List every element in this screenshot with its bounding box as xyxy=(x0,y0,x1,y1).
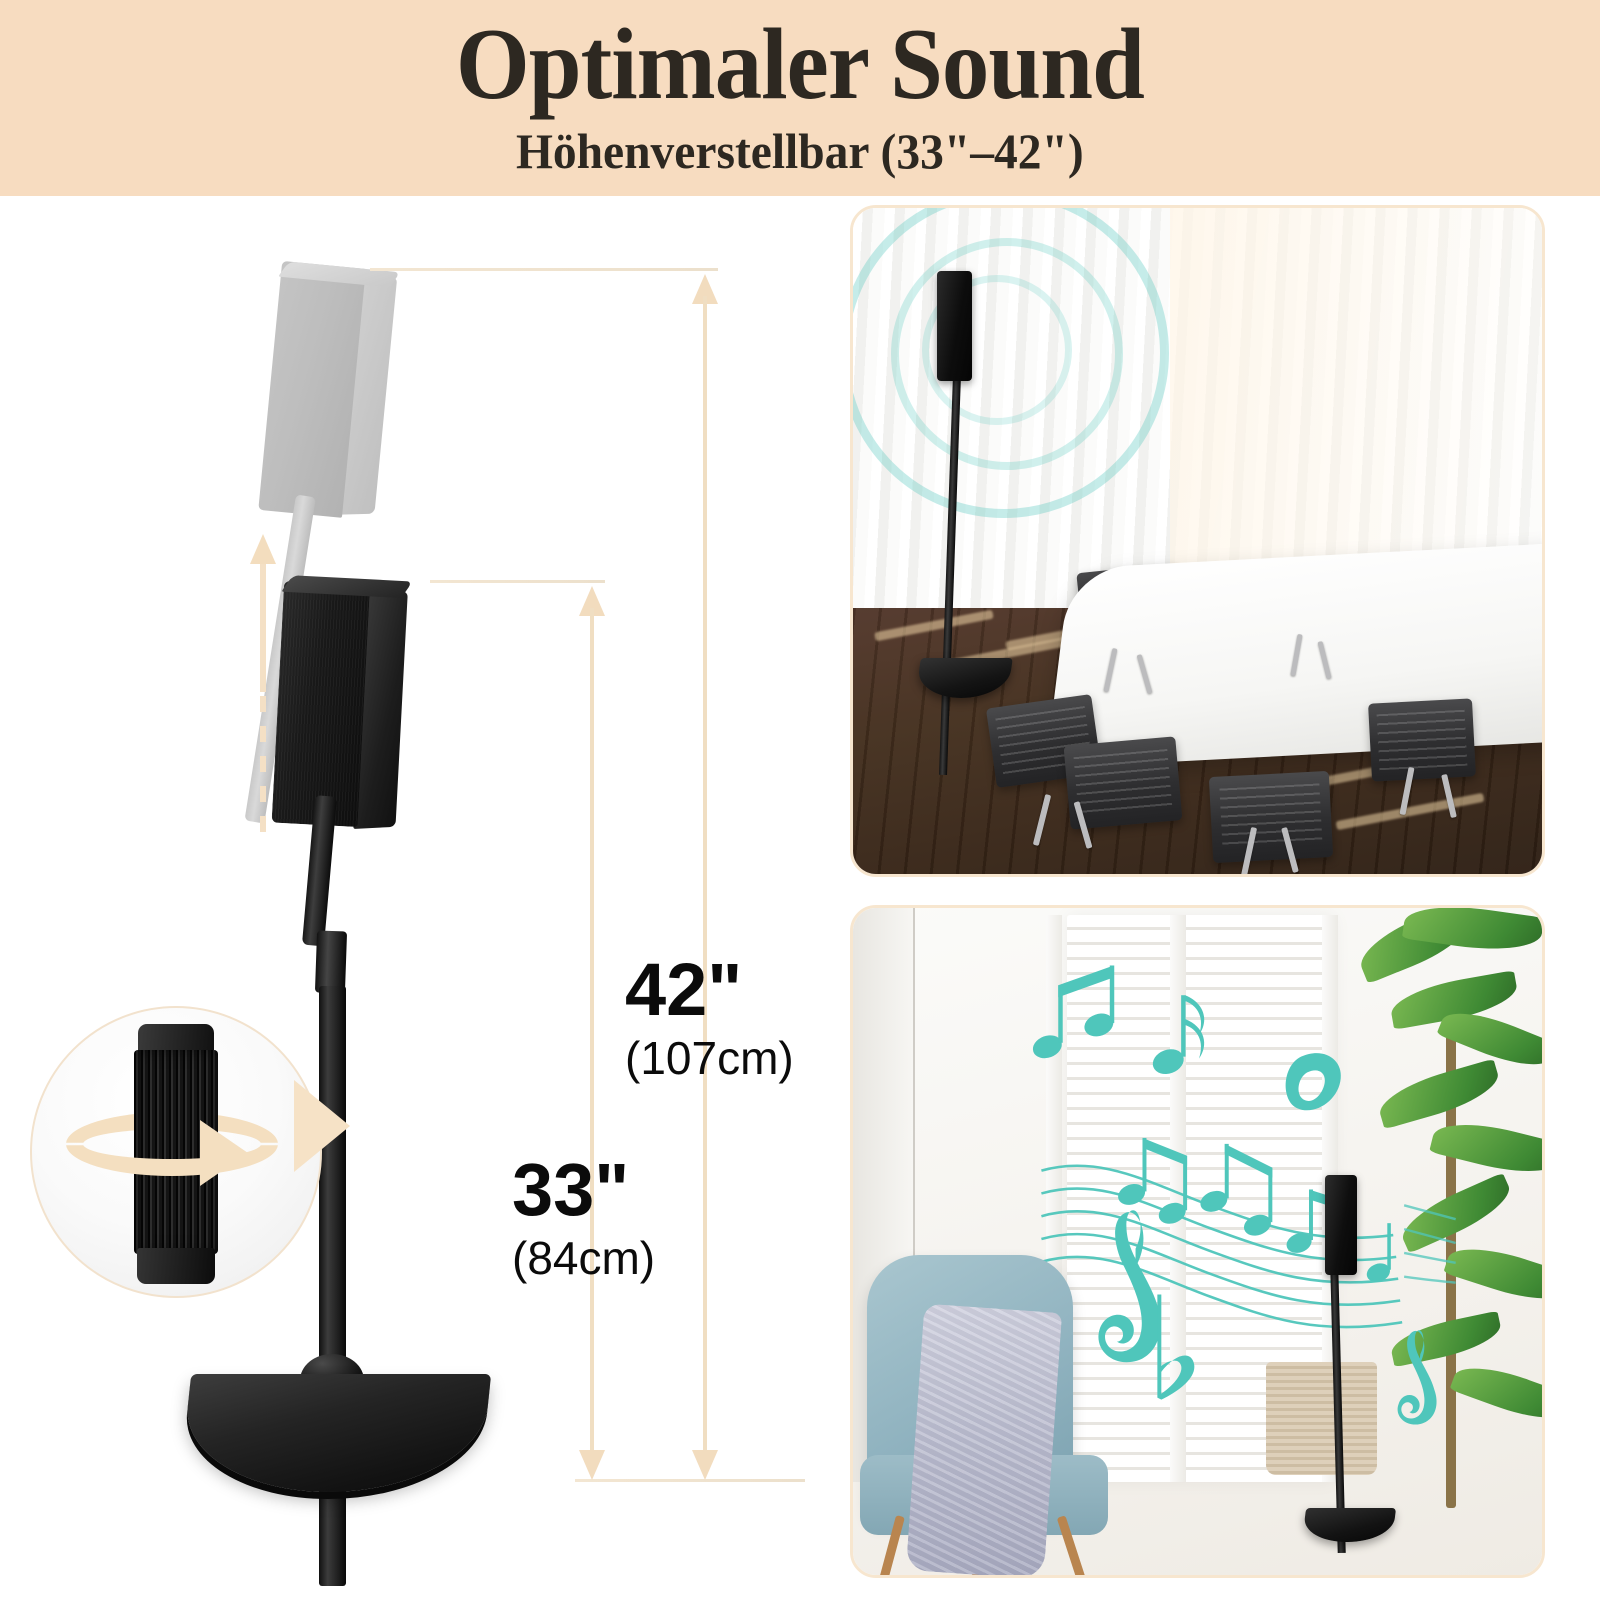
stand-base-plate xyxy=(179,1374,491,1492)
twist-lock-knob-inset xyxy=(30,1006,322,1298)
raised-speaker-ghost xyxy=(258,261,399,521)
pole-twist-collar xyxy=(315,930,347,993)
photo-speaker xyxy=(1325,1175,1357,1275)
conference-chair xyxy=(1209,771,1333,863)
arrow-head-down-icon xyxy=(579,1450,605,1480)
product-dimension-diagram: 42" (107cm) 33" (84cm) xyxy=(0,196,820,1600)
inset-pointer-icon xyxy=(294,1080,350,1172)
height-adjust-arrow-icon xyxy=(250,534,276,834)
conference-chair xyxy=(1368,698,1476,781)
min-height-label: 33" (84cm) xyxy=(512,1156,655,1282)
dimension-arrow-min-height xyxy=(579,586,605,1480)
rotation-arrow-icon xyxy=(200,1120,248,1186)
max-height-inches: 42" xyxy=(625,956,794,1024)
min-height-metric: (84cm) xyxy=(512,1234,655,1282)
dim-tick-min-top xyxy=(430,580,605,583)
wicker-basket xyxy=(1266,1362,1376,1475)
page-title: Optimaler Sound xyxy=(456,14,1144,116)
pole-lower-segment xyxy=(319,986,346,1586)
page-subtitle: Höhenverstellbar (33"–42") xyxy=(516,126,1084,176)
arrow-shaft-dashed xyxy=(260,696,266,834)
arrow-head-up-icon xyxy=(250,534,276,564)
arrow-shaft xyxy=(590,608,594,1458)
photo-conference-room xyxy=(850,205,1545,877)
lowered-speaker xyxy=(272,573,413,829)
dimension-arrow-max-height xyxy=(692,274,718,1480)
arrow-head-down-icon xyxy=(692,1450,718,1480)
header-banner: Optimaler Sound Höhenverstellbar (33"–42… xyxy=(0,0,1600,196)
photo-speaker xyxy=(937,271,972,381)
knob-bottom-cap xyxy=(137,1248,215,1284)
dim-tick-baseline xyxy=(575,1479,805,1482)
arrow-shaft-solid xyxy=(260,564,266,692)
speaker-grille xyxy=(272,581,371,827)
max-height-label: 42" (107cm) xyxy=(625,956,794,1082)
photo-living-room xyxy=(850,905,1545,1578)
max-height-metric: (107cm) xyxy=(625,1034,794,1082)
throw-blanket xyxy=(906,1304,1062,1578)
dim-tick-max-top xyxy=(370,268,718,271)
min-height-inches: 33" xyxy=(512,1156,655,1224)
arrow-shaft xyxy=(703,296,707,1458)
